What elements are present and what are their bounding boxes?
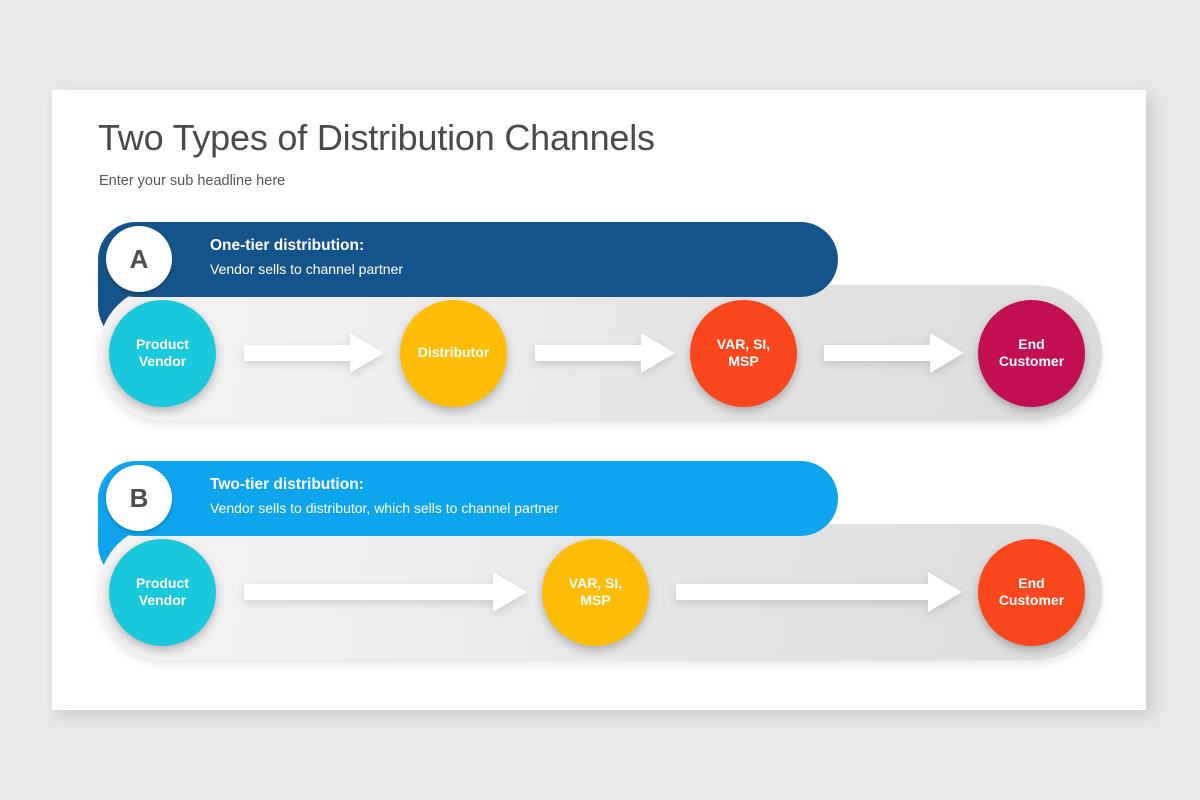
banner-a[interactable]: One-tier distribution: Vendor sells to c…	[98, 222, 838, 297]
flow-arrow-b-2	[676, 572, 962, 612]
flow-node-end-customer-a[interactable]: EndCustomer	[978, 300, 1085, 407]
flow-node-product-vendor-a[interactable]: ProductVendor	[109, 300, 216, 407]
page-subtitle: Enter your sub headline here	[99, 173, 285, 189]
flow-node-label: VAR, SI,MSP	[569, 575, 622, 610]
flow-node-label: EndCustomer	[999, 336, 1064, 371]
flow-node-end-customer-b[interactable]: EndCustomer	[978, 539, 1085, 646]
banner-b-text: Two-tier distribution: Vendor sells to d…	[210, 473, 559, 519]
flow-track-a: ProductVendor Distributor VAR, SI,MSP En…	[98, 285, 1102, 421]
banner-a-text: One-tier distribution: Vendor sells to c…	[210, 234, 403, 280]
flow-node-label: ProductVendor	[136, 336, 189, 371]
flow-node-var-si-msp-b[interactable]: VAR, SI,MSP	[542, 539, 649, 646]
page-title: Two Types of Distribution Channels	[98, 117, 655, 159]
flow-node-label: Distributor	[418, 344, 490, 362]
flow-arrow-b-1	[244, 572, 527, 612]
banner-b-subtitle: Vendor sells to distributor, which sells…	[210, 497, 559, 519]
flow-node-product-vendor-b[interactable]: ProductVendor	[109, 539, 216, 646]
banner-a-subtitle: Vendor sells to channel partner	[210, 258, 403, 280]
banner-b-title: Two-tier distribution:	[210, 473, 559, 497]
flow-arrow-a-2	[535, 333, 675, 373]
flow-arrow-a-3	[824, 333, 964, 373]
flow-node-var-si-msp-a[interactable]: VAR, SI,MSP	[690, 300, 797, 407]
flow-arrow-a-1	[244, 333, 384, 373]
banner-a-title: One-tier distribution:	[210, 234, 403, 258]
flow-node-distributor-a[interactable]: Distributor	[400, 300, 507, 407]
flow-node-label: EndCustomer	[999, 575, 1064, 610]
slide-canvas: Two Types of Distribution Channels Enter…	[52, 90, 1146, 710]
banner-b[interactable]: Two-tier distribution: Vendor sells to d…	[98, 461, 838, 536]
flow-node-label: VAR, SI,MSP	[717, 336, 770, 371]
banner-a-badge: A	[106, 226, 172, 292]
banner-b-badge: B	[106, 465, 172, 531]
flow-node-label: ProductVendor	[136, 575, 189, 610]
flow-track-b: ProductVendor VAR, SI,MSP EndCustomer	[98, 524, 1102, 660]
